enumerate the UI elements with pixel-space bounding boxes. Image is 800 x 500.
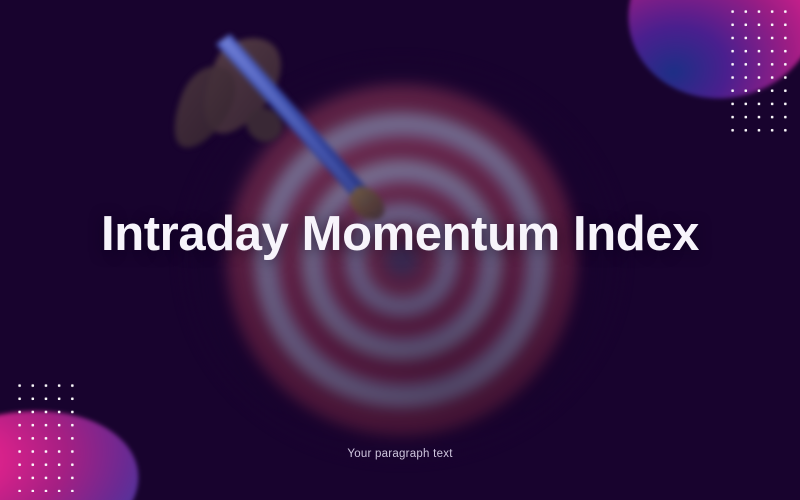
dot-grid-bottom-left [12,378,78,492]
dart-fletching-lower [175,66,236,148]
dot-grid-top-right [725,4,791,132]
dart-arrow-icon [170,28,400,223]
page-title: Intraday Momentum Index [0,206,800,262]
presentation-slide: Intraday Momentum Index Your paragraph t… [0,0,800,500]
paragraph-text: Your paragraph text [0,448,800,460]
dart-collar [246,108,282,142]
